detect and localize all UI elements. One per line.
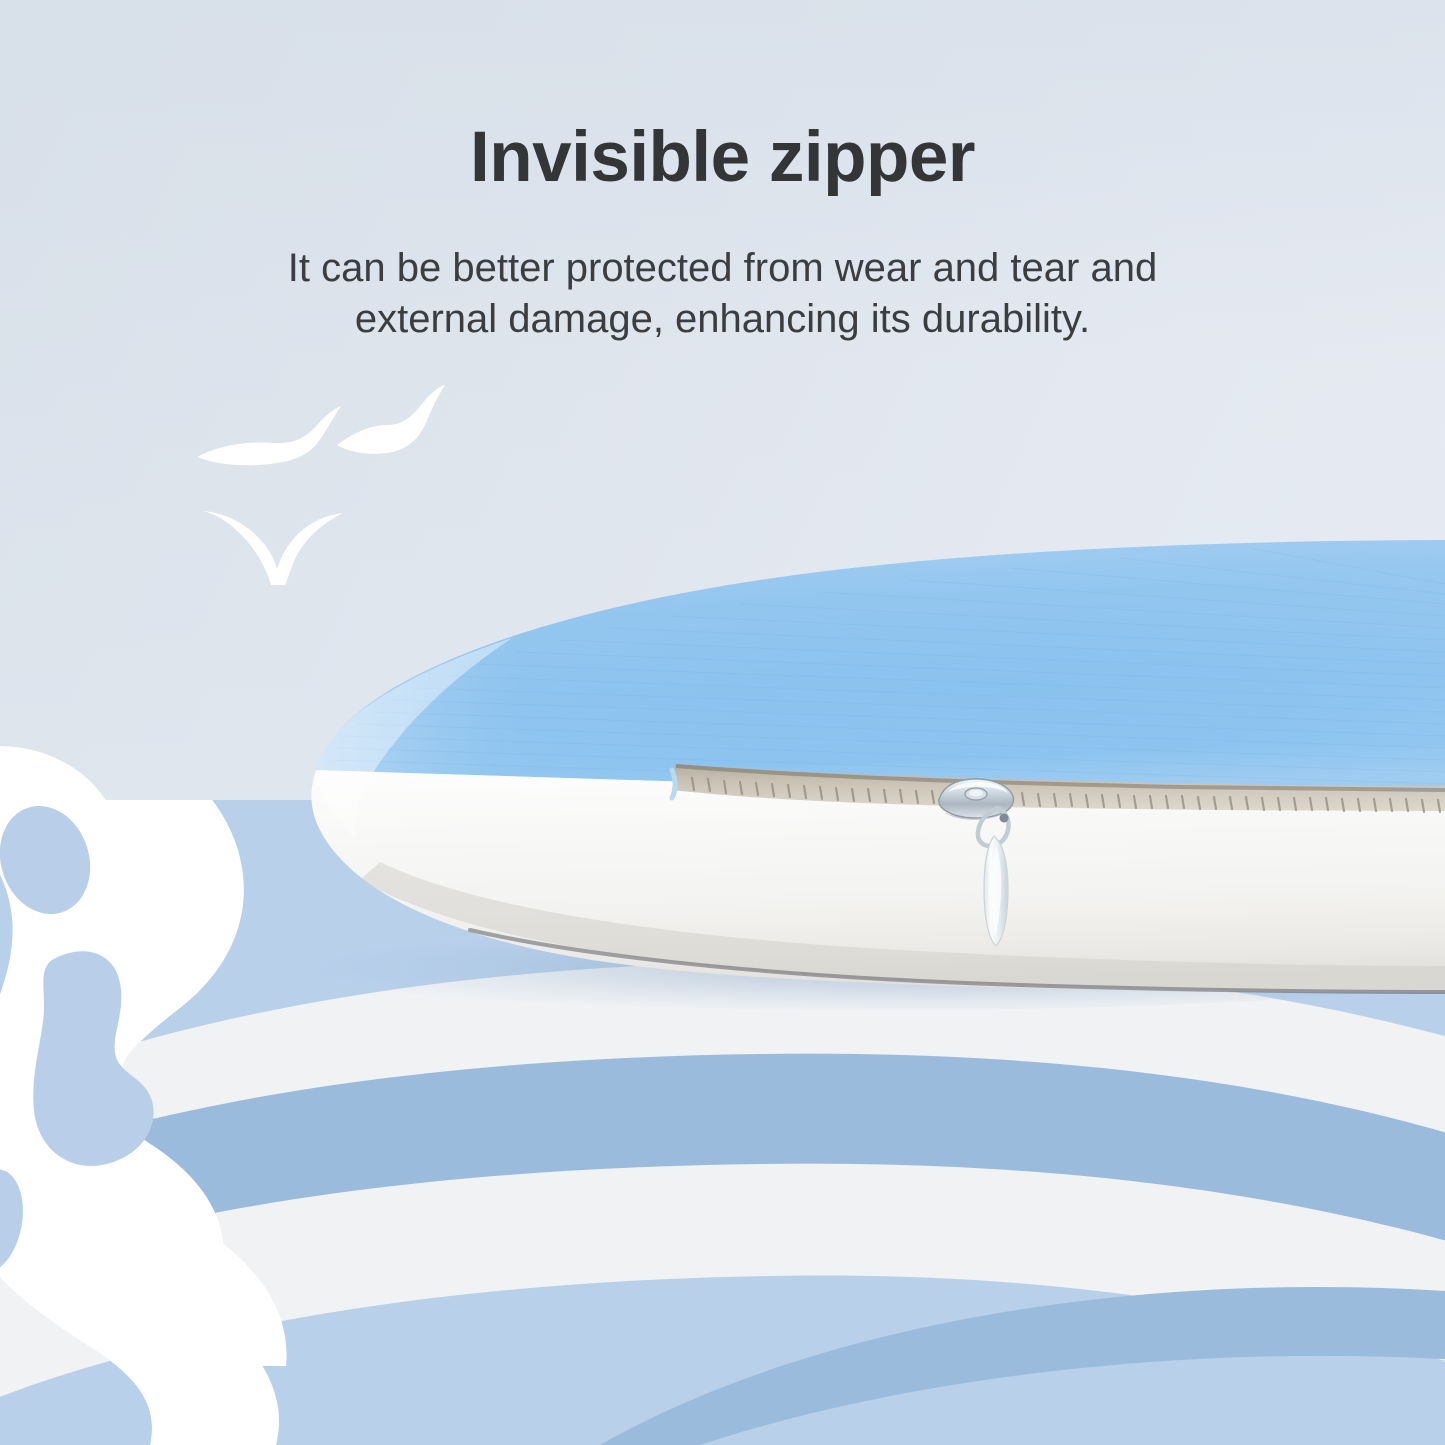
page-subtitle: It can be better protected from wear and… — [0, 243, 1445, 345]
subtitle-line-1: It can be better protected from wear and… — [0, 243, 1445, 294]
pillow-product-photo — [0, 0, 1445, 1445]
page-title: Invisible zipper — [0, 122, 1445, 193]
subtitle-line-2: external damage, enhancing its durabilit… — [0, 294, 1445, 345]
product-feature-card: Invisible zipper It can be better protec… — [0, 0, 1445, 1445]
